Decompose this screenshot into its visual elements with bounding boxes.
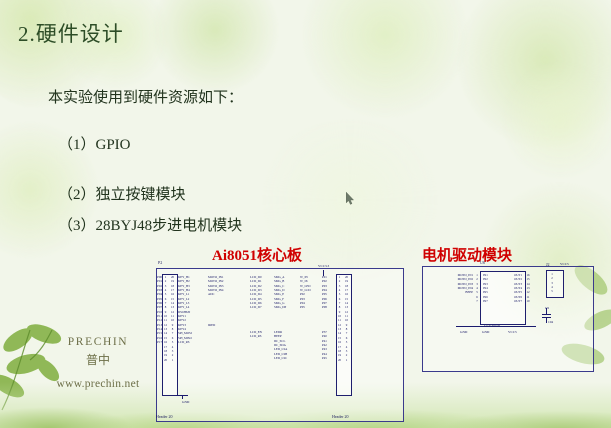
pin-numbers-right-inner: 2019181716151413121110987654321 (343, 275, 350, 362)
schematic-figure: Ai8051核心板 电机驱动模块 P2 12345678910111213141… (150, 238, 605, 423)
cap-lead-bottom (546, 317, 547, 323)
uln-left-pin-numbers: 1234567 (474, 273, 480, 303)
left-signal-col-2: MOTO_IN1MOTO_IN2MOTO_IN3MOTO_IN4ADC IRED (208, 275, 223, 327)
bullet-item-1: （1）GPIO (58, 133, 131, 154)
watermark: PRECHIN 普中 www.prechin.net (38, 336, 158, 390)
j2-pin-numbers: 12345 (548, 272, 556, 294)
intro-text: 本实验使用到硬件资源如下： (48, 86, 243, 107)
cap-lead-top (546, 308, 547, 314)
lcd-ctrl-nets-2: LEDRBEEPIIC_SCLIIC_SDALED_LSALED_LSBLED_… (274, 330, 287, 360)
left-gnd-label: GND (182, 400, 189, 404)
schematic-heading-left: Ai8051核心板 (212, 244, 302, 265)
page-title: 2.硬件设计 (18, 18, 124, 48)
gnd-symbol-stem (182, 395, 183, 399)
uln-right-pin-numbers: 16151413121110 (524, 273, 532, 303)
pin-numbers-left: 1234567891011121314151617181920 (162, 275, 169, 362)
footer-right-header: Header 20 (332, 414, 349, 419)
uln-input-pins: IN1IN2IN3IN4IN5IN6IN7 (483, 273, 488, 303)
uln-vcc-pin: VCC5 (508, 330, 517, 334)
motor-input-nets: MOTO_IN1MOTO_IN2MOTO_IN3MOTO_IN4BEEP (428, 273, 473, 295)
bullet-item-3: （3）28BYJ48步进电机模块 (58, 214, 242, 235)
pin-numbers-left-inner: 2019181716151413121110987654321 (169, 275, 176, 362)
bullet-item-2: （2）独立按键模块 (58, 183, 186, 204)
power-rail-wire (456, 326, 536, 327)
uln-output-pins: OUT1OUT2OUT3OUT4OUT5OUT6OUT7 (498, 273, 522, 303)
left-net-col-p0: P00P01P02P03P04P05P06P07 P10P11P12P13P14… (150, 275, 162, 345)
lcd-ctrl-nets: LCD_ENLCD_RS (250, 330, 262, 339)
schematic-heading-right: 电机驱动模块 (422, 244, 512, 265)
uln-gnd-pin: GND (460, 330, 467, 334)
slide-content: 2.硬件设计 本实验使用到硬件资源如下： （1）GPIO （2）独立按键模块 （… (0, 0, 611, 428)
cap-value: 104 (548, 320, 553, 324)
pin-numbers-right: 1234567891011121314151617181920 (336, 275, 343, 362)
right-vcc-label: VCC5 (560, 262, 569, 266)
port-nets-p3: W_INW_IXW_LEDW_LCD P02P03P04P05 (300, 275, 311, 310)
smg-nets: SMG_ASMG_BSMG_CSMG_D SMG_ESMG_FSMG_GSMG_… (274, 275, 286, 310)
cap-plate-top (542, 314, 551, 315)
vcc-wire (323, 270, 324, 276)
port-numbers-p3: P01P02P03P04 P05P06P07P08 (322, 275, 327, 310)
lcd-ctrl-pins: P37P40P41P42P43P44P45 (322, 330, 327, 360)
left-signal-col-1: KEY_H1KEY_H2KEY_H3KEY_H4 KEY_L1KEY_L2KEY… (178, 275, 192, 345)
footer-left-header: Header 20 (156, 414, 173, 419)
watermark-brand-cn: 普中 (38, 351, 158, 368)
watermark-url: www.prechin.net (38, 378, 158, 390)
watermark-brand-en: PRECHIN (38, 336, 158, 348)
lcd-data-nets: LCD_D0LCD_D1LCD_D2LCD_D3 LCD_D4LCD_D5LCD… (250, 275, 262, 310)
left-vcc-label: VCC3.3 (318, 264, 329, 268)
left-board-ref: P2 (158, 260, 162, 265)
j2-ref: J2 (546, 262, 550, 267)
uln-gnd-pin-2: GND (482, 330, 489, 334)
mouse-pointer-icon (346, 192, 355, 205)
right-ic-ref: U6 (480, 260, 485, 265)
